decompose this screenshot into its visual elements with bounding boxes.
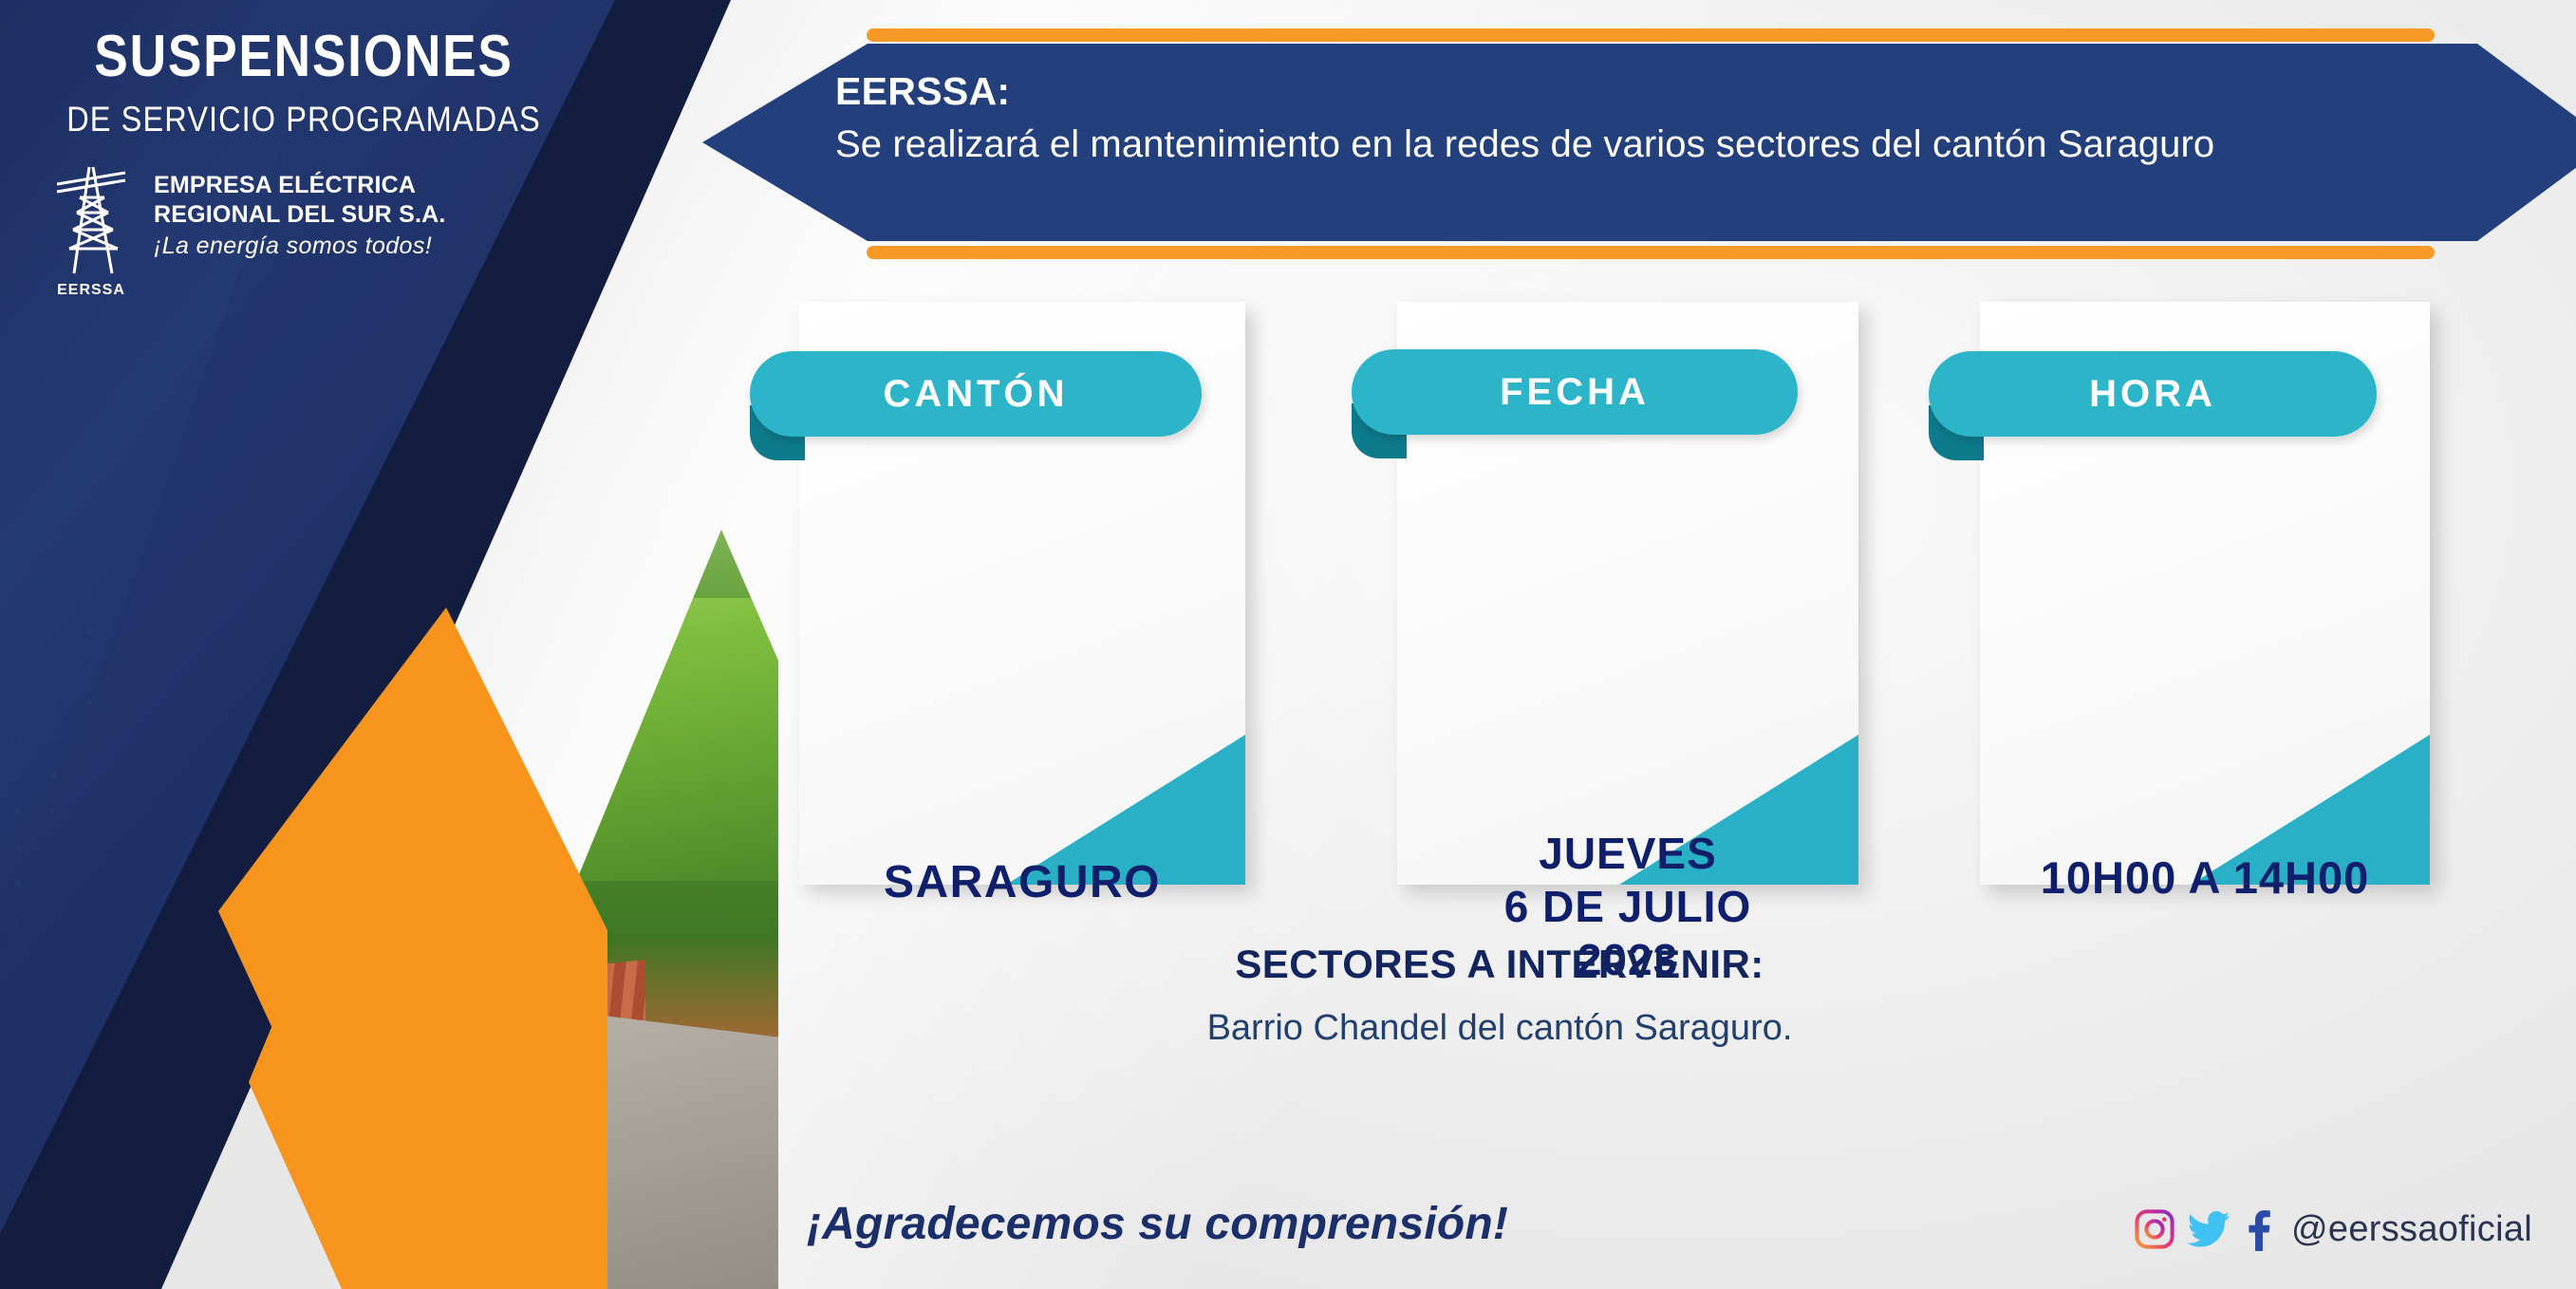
sectors-text: Barrio Chandel del cantón Saraguro. (816, 1008, 2183, 1049)
card-label-fecha: FECHA (1352, 349, 1798, 435)
fecha-line-2: 6 DE JULIO (1397, 880, 1858, 933)
hora-value: 10H00 A 14H00 (1980, 850, 2430, 905)
sectors-title: SECTORES A INTERVENIR: (816, 942, 2183, 987)
banner-rule-top (867, 28, 2435, 42)
poster-title: SUSPENSIONES (43, 23, 565, 90)
card-label-hora: HORA (1929, 351, 2377, 437)
fecha-line-1: JUEVES (1397, 827, 1858, 880)
transmission-tower-icon: EERSSA (46, 159, 137, 299)
eerssa-logo: EERSSA EMPRESA ELÉCTRICA REGIONAL DEL SU… (46, 159, 445, 299)
banner-rule-bottom (867, 246, 2435, 259)
facebook-icon[interactable] (2241, 1207, 2275, 1251)
announcement-banner: EERSSA: Se realizará el mantenimiento en… (702, 44, 2576, 241)
logo-wordmark: EERSSA (46, 282, 137, 299)
poster-subtitle: DE SERVICIO PROGRAMADAS (36, 100, 570, 140)
twitter-icon[interactable] (2185, 1207, 2232, 1251)
company-tagline: ¡La energía somos todos! (154, 233, 445, 260)
poster-canvas: SUSPENSIONES DE SERVICIO PROGRAMADAS EER… (0, 0, 2576, 1289)
thanks-message: ¡Agradecemos su comprensión! (807, 1198, 1508, 1250)
brand-header: SUSPENSIONES DE SERVICIO PROGRAMADAS (0, 23, 607, 140)
social-links: @eerssaoficial (2133, 1207, 2532, 1251)
banner-message: Se realizará el mantenimiento en la rede… (835, 121, 2576, 168)
banner-heading: EERSSA: (835, 68, 2576, 115)
canton-value: SARAGURO (799, 855, 1245, 911)
card-label-canton: CANTÓN (750, 351, 1202, 437)
instagram-icon[interactable] (2133, 1207, 2176, 1251)
social-handle[interactable]: @eerssaoficial (2291, 1209, 2532, 1250)
company-name-line1: EMPRESA ELÉCTRICA (154, 171, 445, 200)
company-name-line2: REGIONAL DEL SUR S.A. (154, 200, 445, 230)
